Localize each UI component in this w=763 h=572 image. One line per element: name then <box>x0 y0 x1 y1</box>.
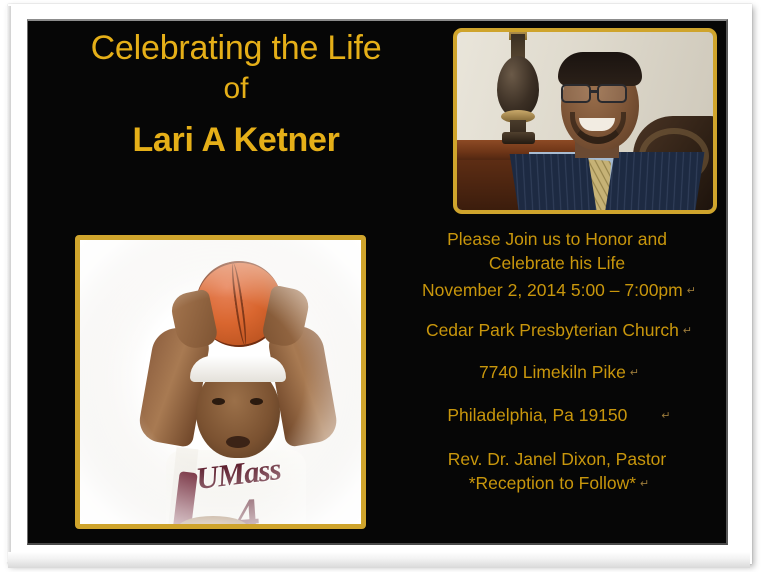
portrait-lamp-foot <box>502 132 535 144</box>
player-eye-left <box>212 398 225 405</box>
portrait-photo-frame <box>453 28 717 214</box>
portrait-eyeglass-bridge <box>590 90 598 93</box>
player-mouth <box>226 436 250 448</box>
headline-block: Celebrating the Life of Lari A Ketner <box>34 29 438 161</box>
detail-line-0: Please Join us to Honor and <box>396 231 722 249</box>
portrait-vest-right <box>603 152 704 214</box>
deceased-name: Lari A Ketner <box>34 121 438 160</box>
detail-text-1: Celebrate his Life <box>489 253 625 273</box>
basketball-photo: UMass 4 <box>80 240 361 524</box>
detail-line-6: Rev. Dr. Janel Dixon, Pastor <box>396 451 722 469</box>
memorial-flyer-panel: Celebrating the Life of Lari A Ketner <box>27 19 728 545</box>
return-mark-7: ↵ <box>640 478 649 490</box>
detail-line-1: Celebrate his Life <box>396 255 722 273</box>
detail-text-6: Rev. Dr. Janel Dixon, Pastor <box>448 449 667 469</box>
return-mark-5: ↵ <box>661 410 670 422</box>
paper-bottom-edge <box>8 552 750 568</box>
portrait-eyeglass-right <box>597 84 627 103</box>
flyer-page: Celebrating the Life of Lari A Ketner <box>0 0 763 572</box>
paper-left-edge <box>6 6 11 562</box>
portrait-lamp-body <box>497 56 539 118</box>
portrait-photo <box>457 32 713 210</box>
detail-line-3: Cedar Park Presbyterian Church↵ <box>396 322 722 340</box>
return-mark-4: ↵ <box>630 367 639 379</box>
event-details-block: Please Join us to Honor and Celebrate hi… <box>396 231 722 492</box>
return-mark-2: ↵ <box>687 285 696 297</box>
headline-line-1: Celebrating the Life <box>34 29 438 68</box>
detail-text-3: Cedar Park Presbyterian Church <box>426 320 679 340</box>
detail-line-5: Philadelphia, Pa 19150↵ <box>396 407 722 425</box>
detail-text-0: Please Join us to Honor and <box>447 229 667 249</box>
basketball-photo-frame: UMass 4 <box>75 235 366 529</box>
detail-line-7: *Reception to Follow*↵ <box>396 475 722 493</box>
portrait-vest-left <box>510 154 599 214</box>
detail-text-7: *Reception to Follow* <box>469 473 636 493</box>
detail-line-4: 7740 Limekiln Pike↵ <box>396 364 722 382</box>
detail-text-5: Philadelphia, Pa 19150 <box>447 405 627 425</box>
headline-line-2: of <box>34 72 438 107</box>
return-mark-3: ↵ <box>683 325 692 337</box>
detail-text-4: 7740 Limekiln Pike <box>479 362 626 382</box>
portrait-eyeglass-left <box>561 84 591 103</box>
player-eye-right <box>250 398 263 405</box>
detail-text-2: November 2, 2014 5:00 – 7:00pm <box>422 280 683 300</box>
portrait-hair <box>558 52 642 86</box>
detail-line-2: November 2, 2014 5:00 – 7:00pm↵ <box>396 282 722 300</box>
player-headband <box>190 356 286 382</box>
